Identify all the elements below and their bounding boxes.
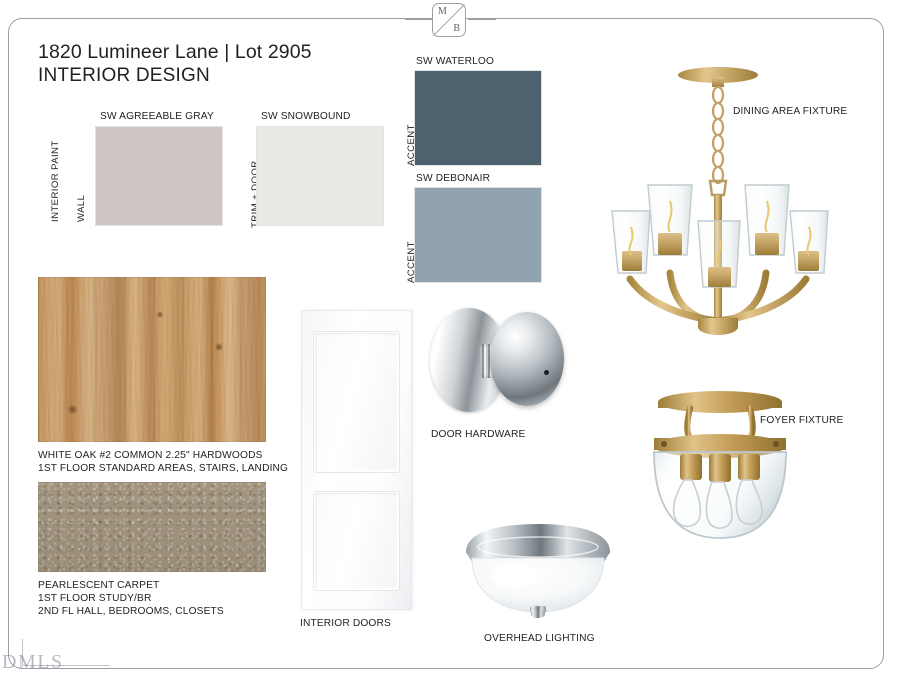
interior-door-sample xyxy=(301,310,412,610)
foyer-light-fixture xyxy=(620,378,825,543)
interior-doors-label: INTERIOR DOORS xyxy=(300,617,391,630)
page-title: 1820 Lumineer Lane | Lot 2905 INTERIOR D… xyxy=(38,41,312,87)
wood-knot xyxy=(214,343,224,351)
dining-area-fixture-label: DINING AREA FIXTURE xyxy=(733,105,847,118)
wood-grain-texture xyxy=(38,277,266,442)
door-panel-lower xyxy=(314,492,399,590)
interior-paint-section-label: INTERIOR PAINT xyxy=(50,140,61,222)
carpet-caption-line2: 1ST FLOOR STUDY/BR xyxy=(38,592,151,605)
door-hardware-label: DOOR HARDWARE xyxy=(431,428,525,441)
accent-waterloo-label: SW WATERLOO xyxy=(416,55,494,68)
knob-ball xyxy=(490,312,564,406)
wood-knot xyxy=(156,311,164,318)
chandelier-svg xyxy=(600,55,850,345)
accent-debonair-label: SW DEBONAIR xyxy=(416,172,490,185)
chandelier-chain xyxy=(713,87,723,183)
chandelier-shade xyxy=(612,211,650,273)
logo-letter-bottom: B xyxy=(453,23,460,34)
door-panel-upper xyxy=(314,332,399,472)
hardwood-caption-line1: WHITE OAK #2 COMMON 2.25" HARDWOODS xyxy=(38,449,263,462)
chandelier-shade xyxy=(790,211,828,273)
hardwood-flooring-sample xyxy=(38,277,266,442)
chandelier-shade xyxy=(698,221,740,287)
board-logo: M B xyxy=(0,0,900,40)
title-subtitle: INTERIOR DESIGN xyxy=(38,65,312,87)
logo-rule-left xyxy=(405,19,433,20)
dining-area-chandelier xyxy=(600,55,850,345)
chandelier-shade xyxy=(745,185,789,255)
wall-role-label: WALL xyxy=(76,195,87,222)
logo-rule-right xyxy=(468,19,496,20)
accent-waterloo-swatch xyxy=(414,70,542,166)
hardwood-caption-line2: 1ST FLOOR STANDARD AREAS, STAIRS, LANDIN… xyxy=(38,462,288,475)
door-hardware-knob xyxy=(424,300,564,422)
flush-mount-svg xyxy=(442,518,634,618)
carpet-sample xyxy=(38,482,266,572)
flush-frosted-dome xyxy=(472,558,604,612)
wood-knot xyxy=(66,405,79,414)
overhead-lighting-label: OVERHEAD LIGHTING xyxy=(484,632,595,645)
chandelier-shade xyxy=(648,185,692,255)
title-address: 1820 Lumineer Lane | Lot 2905 xyxy=(38,41,312,64)
mb-logo-badge: M B xyxy=(432,3,466,37)
overhead-light-fixture xyxy=(442,518,634,618)
knob-set-hole xyxy=(544,370,549,375)
trim-door-paint-swatch xyxy=(256,126,384,226)
wall-paint-swatch xyxy=(95,126,223,226)
carpet-caption-line3: 2ND FL HALL, BEDROOMS, CLOSETS xyxy=(38,605,224,618)
accent-debonair-swatch xyxy=(414,187,542,283)
wall-paint-label: SW AGREEABLE GRAY xyxy=(100,110,214,123)
foyer-fixture-svg xyxy=(620,378,825,543)
carpet-caption-line1: PEARLESCENT CARPET xyxy=(38,579,159,592)
logo-letter-top: M xyxy=(438,6,447,17)
trim-door-paint-label: SW SNOWBOUND xyxy=(261,110,351,123)
foyer-fixture-label: FOYER FIXTURE xyxy=(760,414,843,427)
